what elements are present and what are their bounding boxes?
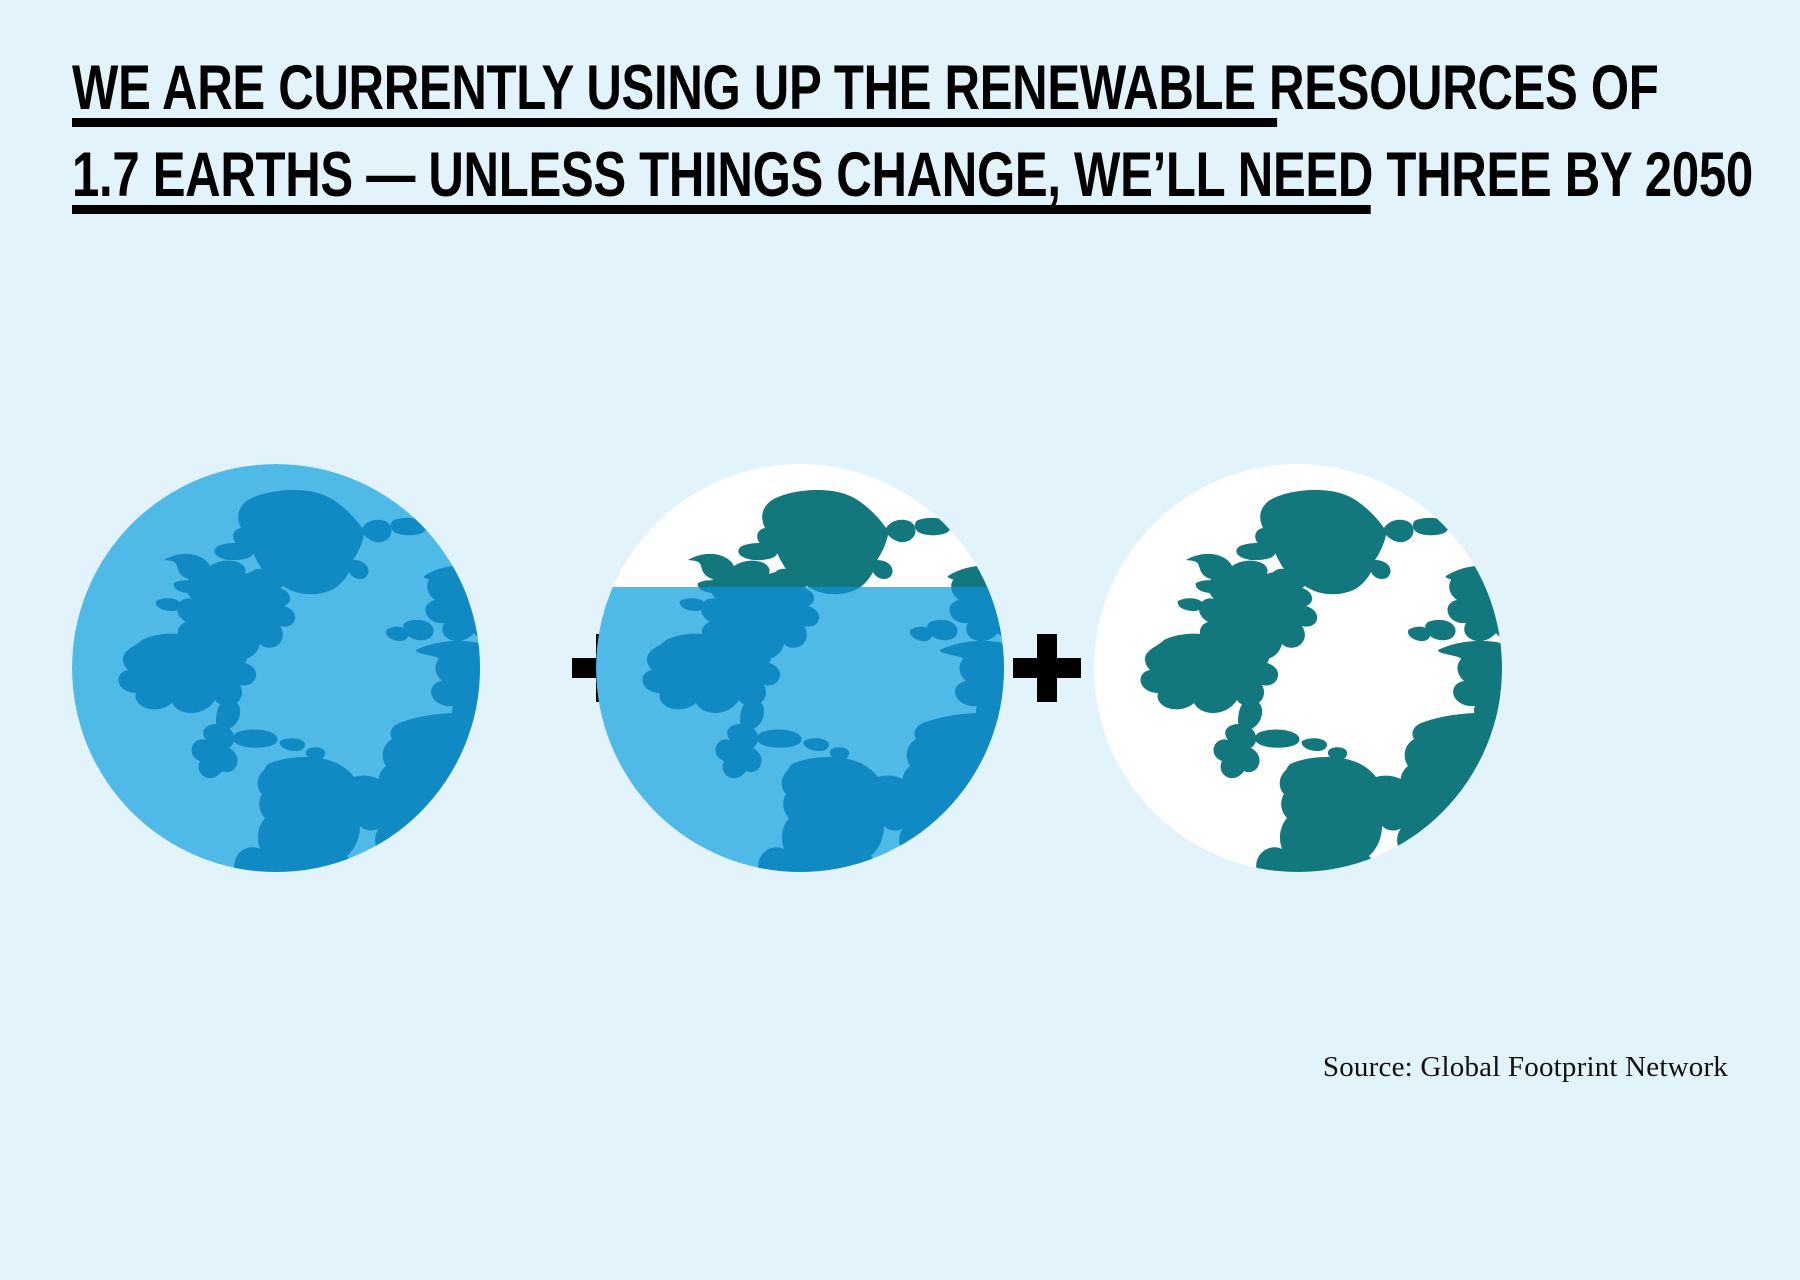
headline-underline-1 xyxy=(72,118,1277,127)
globe-icon-3-empty xyxy=(1094,464,1502,872)
globe-3-svg xyxy=(1094,464,1502,872)
headline-line-2: 1.7 EARTHS — UNLESS THINGS CHANGE, WE’LL… xyxy=(72,143,1351,208)
globe-2-svg xyxy=(596,464,1004,872)
globe-pictogram-row xyxy=(0,464,1800,876)
plus-operator-2 xyxy=(1013,634,1081,702)
headline-underline-2 xyxy=(72,205,1371,214)
page-title: WE ARE CURRENTLY USING UP THE RENEWABLE … xyxy=(72,56,1712,208)
globe-1-svg xyxy=(72,464,480,872)
source-credit: Source: Global Footprint Network xyxy=(1323,1051,1728,1084)
globe-icon-1-full xyxy=(72,464,480,872)
headline-line-1: WE ARE CURRENTLY USING UP THE RENEWABLE … xyxy=(72,56,1351,121)
globe-icon-2-partial xyxy=(596,464,1004,872)
